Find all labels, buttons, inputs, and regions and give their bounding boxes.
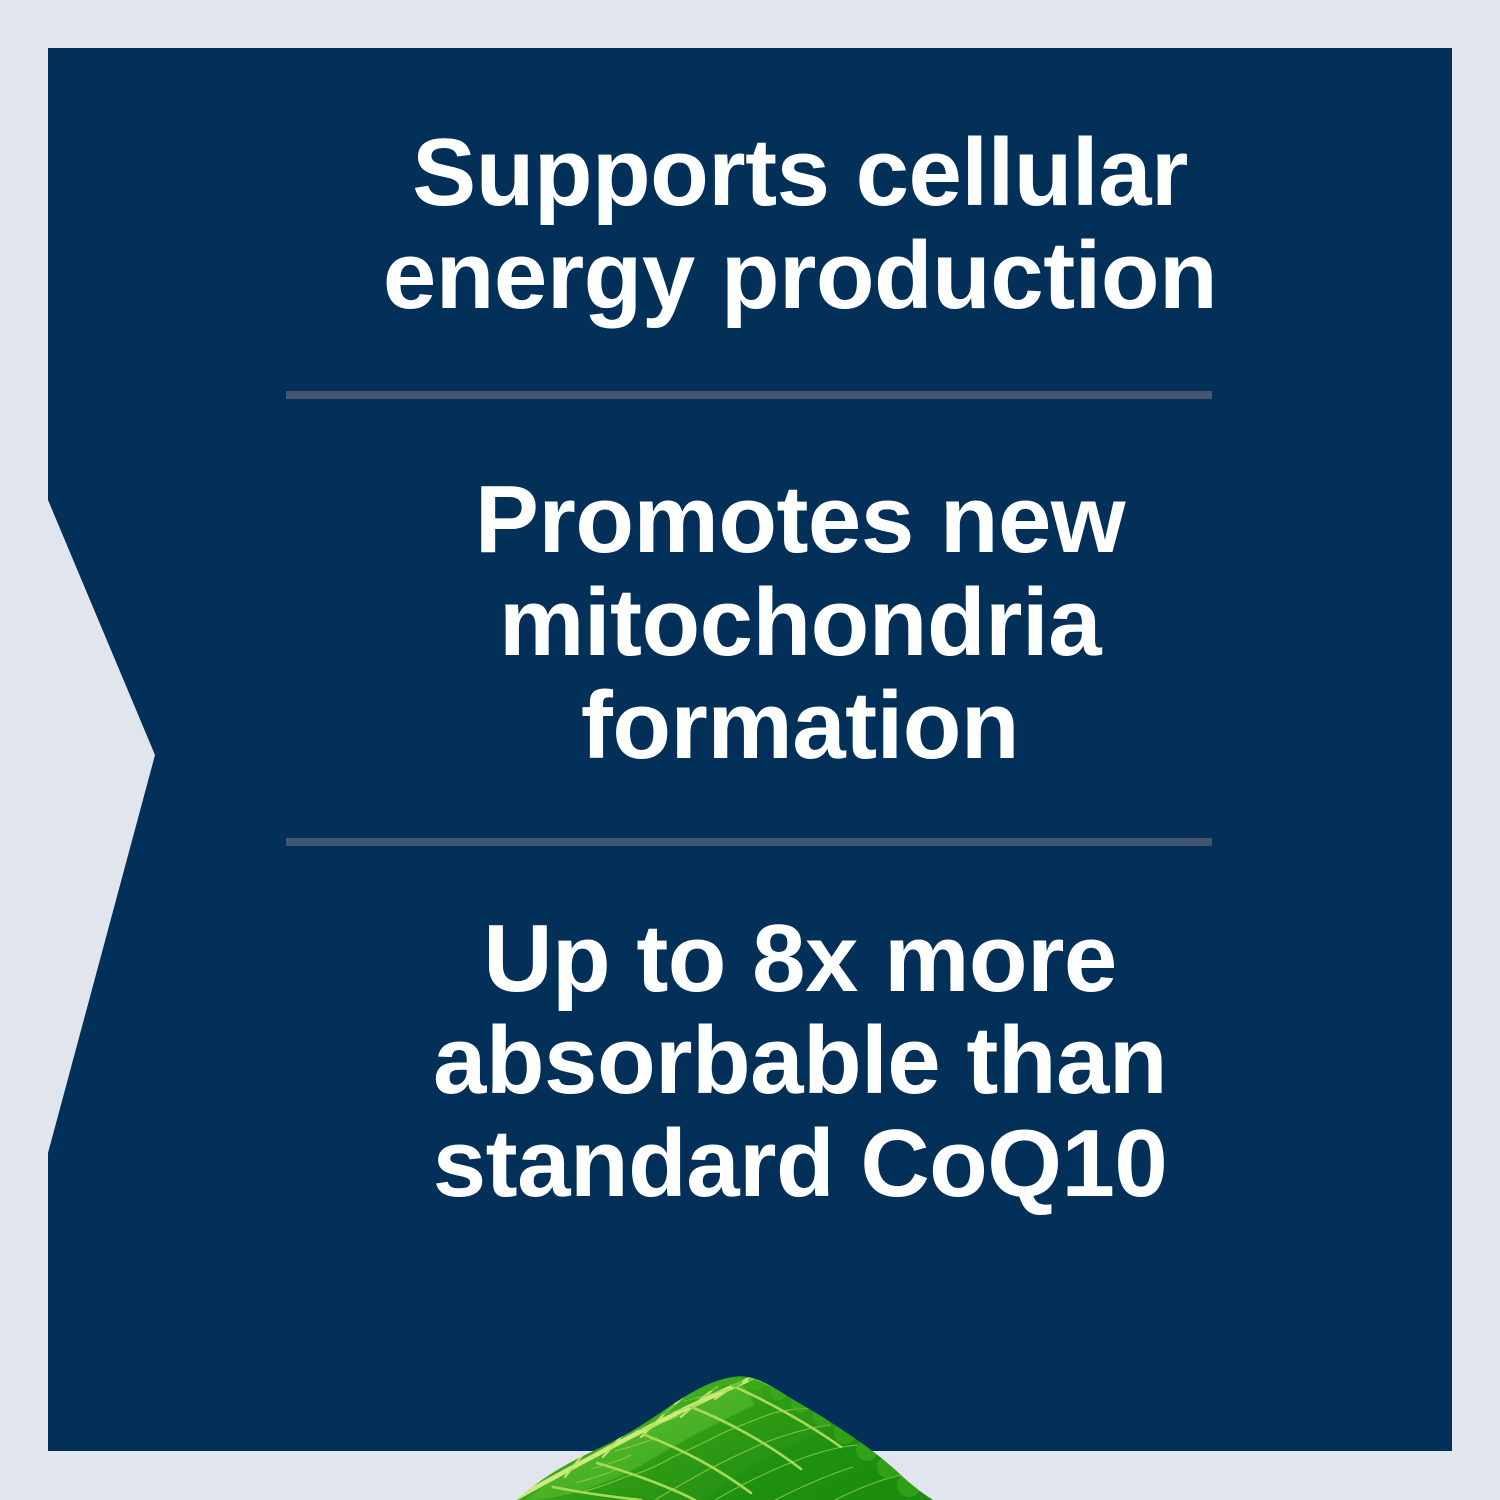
benefit-text-3: Up to 8x more absorbable than standard C… <box>48 908 1452 1216</box>
benefit-divider-2 <box>286 838 1212 846</box>
benefits-content-column: Supports cellular energy production Prom… <box>48 48 1452 1451</box>
poster-canvas: Supports cellular energy production Prom… <box>0 0 1500 1500</box>
benefit-text-1: Supports cellular energy production <box>48 122 1452 327</box>
benefit-divider-1 <box>286 391 1212 399</box>
benefit-text-2: Promotes new mitochondria formation <box>48 469 1452 777</box>
